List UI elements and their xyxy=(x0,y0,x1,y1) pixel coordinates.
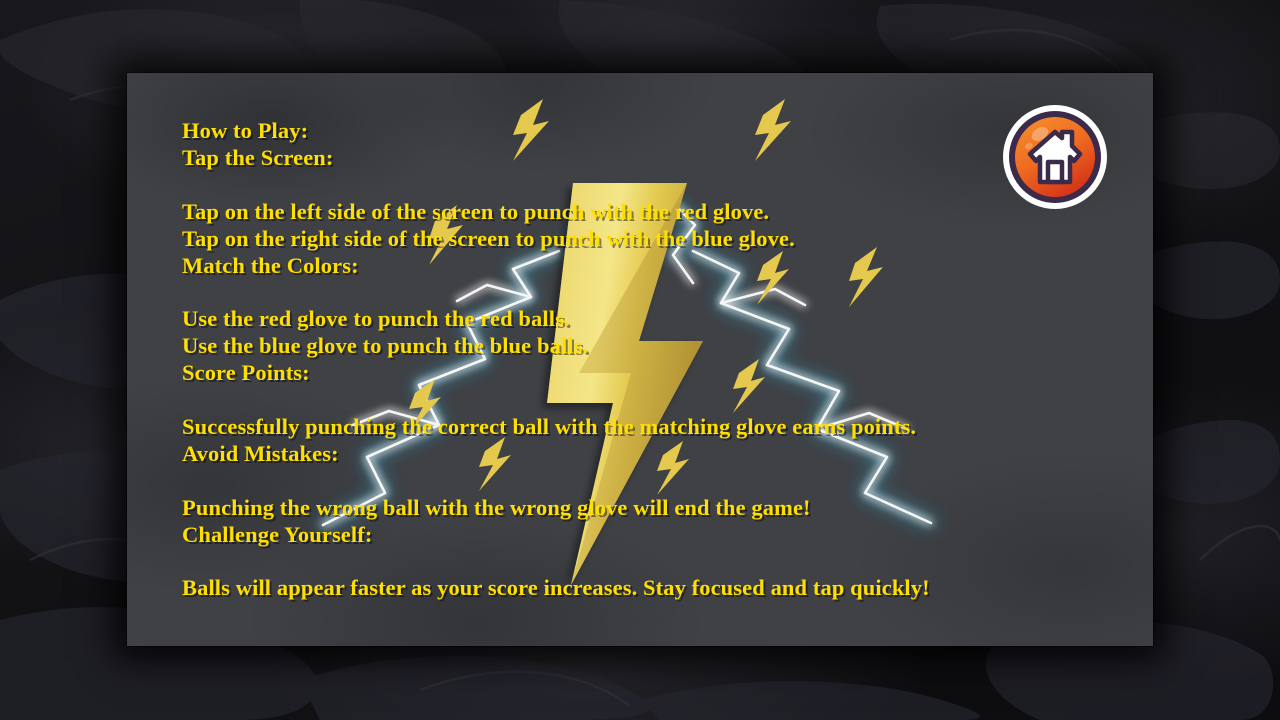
instruction-line-match-colors: Match the Colors: xyxy=(182,253,1113,280)
instruction-spacer-4 xyxy=(182,468,1113,495)
how-to-play-panel: How to Play: Tap the Screen: Tap on the … xyxy=(127,73,1153,646)
instruction-line-tap-the-screen: Tap the Screen: xyxy=(182,145,1113,172)
instruction-spacer-1 xyxy=(182,172,1113,199)
instruction-line-challenge: Challenge Yourself: xyxy=(182,522,1113,549)
instruction-spacer-5 xyxy=(182,549,1113,576)
instruction-line-score-points: Score Points: xyxy=(182,360,1113,387)
instruction-line-earn-points: Successfully punching the correct ball w… xyxy=(182,414,1113,441)
instruction-line-how-to-play: How to Play: xyxy=(182,118,1113,145)
instruction-line-tap-right: Tap on the right side of the screen to p… xyxy=(182,226,1113,253)
instruction-line-red-glove: Use the red glove to punch the red balls… xyxy=(182,306,1113,333)
instruction-line-speed: Balls will appear faster as your score i… xyxy=(182,575,1113,602)
instructions-text-block: How to Play: Tap the Screen: Tap on the … xyxy=(182,118,1113,602)
instruction-spacer-3 xyxy=(182,387,1113,414)
home-button[interactable] xyxy=(1000,102,1110,212)
instruction-line-wrong-ball: Punching the wrong ball with the wrong g… xyxy=(182,495,1113,522)
instruction-spacer-2 xyxy=(182,279,1113,306)
instruction-line-blue-glove: Use the blue glove to punch the blue bal… xyxy=(182,333,1113,360)
home-icon-door xyxy=(1048,162,1062,182)
instruction-line-tap-left: Tap on the left side of the screen to pu… xyxy=(182,199,1113,226)
instruction-line-avoid-mistakes: Avoid Mistakes: xyxy=(182,441,1113,468)
